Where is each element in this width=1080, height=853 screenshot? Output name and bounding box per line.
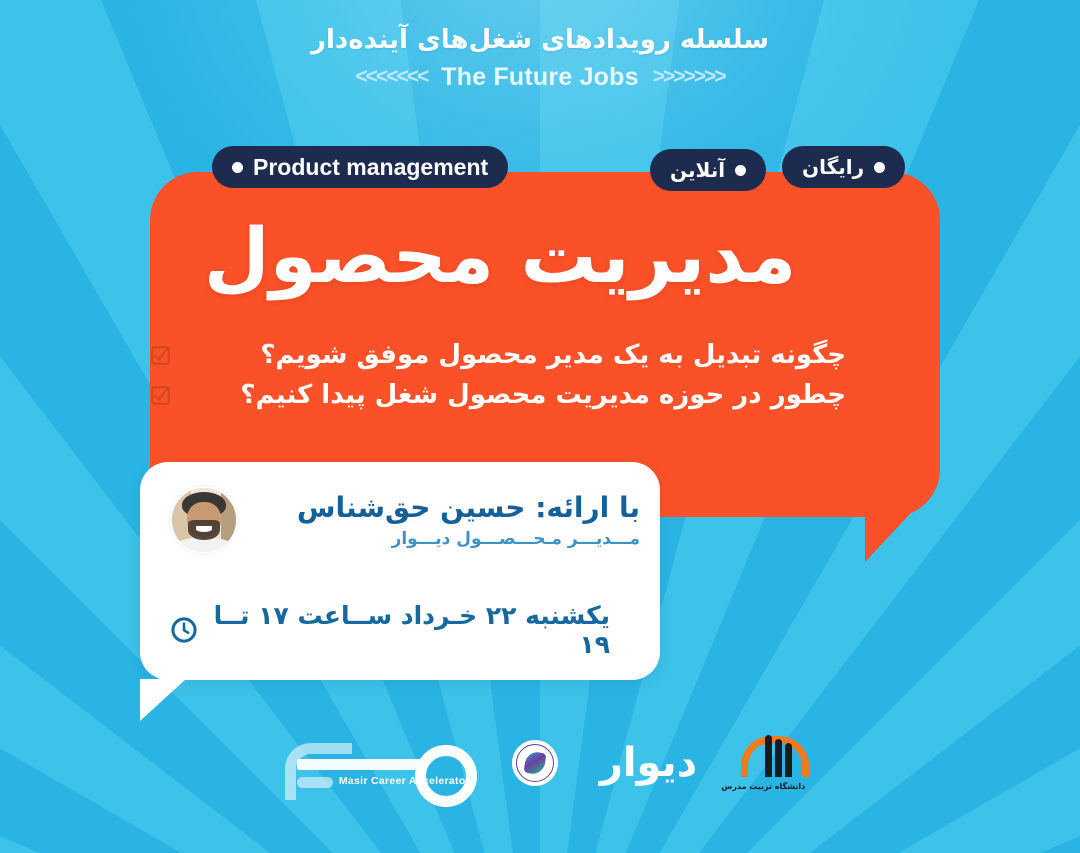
badge-product-management-label: Product management [253,154,488,181]
header-subtitle-row: <<<<<<< The Future Jobs >>>>>>> [0,63,1080,92]
university-logo-caption: دانشگاه تربیت مدرس [739,782,805,791]
badge-online[interactable]: آنلاین [650,149,766,191]
event-datetime-row: یکشنبه ۲۲ خـرداد ســاعت ۱۷ تــا ۱۹ [170,606,610,654]
badge-dot-icon [874,162,885,173]
main-title: مدیریت محصول [150,216,850,296]
sponsor-emblem-ring [516,744,554,782]
clock-icon [170,616,198,644]
bullet-item: چگونه تبدیل به یک مدیر محصول موفق شویم؟ [150,340,860,370]
university-logo: دانشگاه تربیت مدرس [739,735,805,791]
avatar-shirt [178,538,229,552]
presenter-row: با ارائه: حسین حق‌شناس مـــدیـــر مـحـــ… [170,478,640,562]
checkbox-checked-icon [150,385,171,406]
bullet-item: چطور در حوزه مدیریت محصول شغل پیدا کنیم؟ [150,380,860,410]
checkbox-checked-icon [150,345,171,366]
masir-bar-icon [297,759,427,770]
bullet-list: چگونه تبدیل به یک مدیر محصول موفق شویم؟ … [150,340,860,420]
presenter-text-block: با ارائه: حسین حق‌شناس مـــدیـــر مـحـــ… [256,491,640,549]
badge-online-label: آنلاین [670,158,725,182]
chevrons-left-icon: <<<<<<< [355,65,427,89]
bullet-item-label: چطور در حوزه مدیریت محصول شغل پیدا کنیم؟ [187,380,846,410]
badge-dot-icon [232,162,243,173]
masir-hook-icon [285,743,352,800]
sponsor-emblem-swoosh-icon [523,751,546,776]
event-datetime-label: یکشنبه ۲۲ خـرداد ســاعت ۱۷ تــا ۱۹ [212,601,610,659]
presenter-name: با ارائه: حسین حق‌شناس [256,491,640,525]
badge-product-management[interactable]: Product management [212,146,508,188]
masir-logo: Masir Career Accelerator [275,733,470,793]
university-tower-icon [775,739,782,777]
presenter-role: مـــدیـــر مـحـــصـــول دیـــوار [256,529,640,549]
poster-header: سلسله رویدادهای شغل‌های آینده‌دار <<<<<<… [0,24,1080,92]
poster-canvas: سلسله رویدادهای شغل‌های آینده‌دار <<<<<<… [0,0,1080,853]
masir-pill-icon [297,777,333,788]
badge-free[interactable]: رایگان [782,146,905,188]
presenter-card-tail [140,679,186,721]
badge-row: Product management آنلاین رایگان [0,146,1080,192]
sponsor-emblem-logo [512,740,558,786]
header-subtitle-en: The Future Jobs [441,63,638,92]
presenter-avatar [170,486,238,554]
logo-row: Masir Career Accelerator دیوار دانشگاه ت… [0,728,1080,798]
university-tower-icon [785,743,792,777]
divar-logo: دیوار [600,743,697,783]
badge-free-label: رایگان [802,155,864,179]
avatar-smile [196,526,211,532]
chevrons-right-icon: >>>>>>> [653,65,725,89]
masir-logo-caption: Masir Career Accelerator [339,775,470,787]
header-title: سلسله رویدادهای شغل‌های آینده‌دار [0,24,1080,57]
university-tower-icon [765,735,772,777]
orange-speech-bubble-tail [865,500,923,562]
bullet-item-label: چگونه تبدیل به یک مدیر محصول موفق شویم؟ [187,340,846,370]
badge-dot-icon [735,165,746,176]
